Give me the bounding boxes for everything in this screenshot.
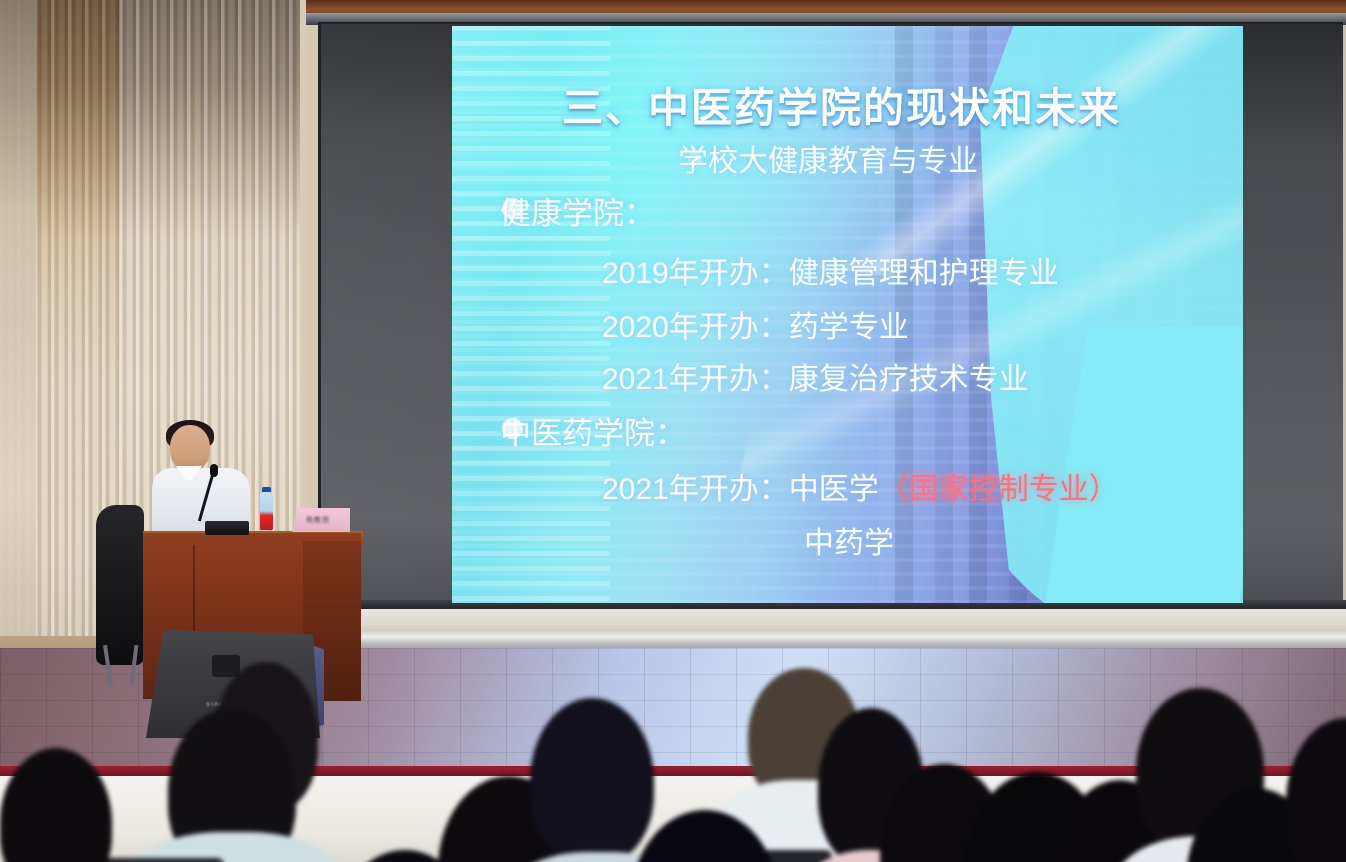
slide-bullet-2-label: 中医药学院： xyxy=(500,408,686,453)
audience-head xyxy=(530,698,654,862)
slide-text-layer: 三、中医药学院的现状和未来 学校大健康教育与专业 健康学院： 2019年开办：健… xyxy=(452,26,1243,603)
speaker-head xyxy=(170,425,210,471)
lecture-hall-screenshot: 三、中医药学院的现状和未来 学校大健康教育与专业 健康学院： 2019年开办：健… xyxy=(0,0,1346,862)
audience-head xyxy=(0,748,112,862)
left-wall-strip xyxy=(0,0,36,700)
slide-subtitle: 学校大健康教育与专业 xyxy=(678,136,978,180)
microphone-icon xyxy=(210,464,218,477)
slide-bullet-1-item-1: 2019年开办：健康管理和护理专业 xyxy=(602,248,1059,292)
audience-chair-back xyxy=(92,858,224,862)
water-bottle xyxy=(260,492,273,530)
slide-title: 三、中医药学院的现状和未来 xyxy=(562,74,1182,134)
audience-foreground xyxy=(0,600,1346,862)
slide-bullet-1-label: 健康学院： xyxy=(500,188,655,233)
projected-slide: 三、中医药学院的现状和未来 学校大健康教育与专业 健康学院： 2019年开办：健… xyxy=(452,26,1243,603)
slide-bullet-1-item-2: 2020年开办：药学专业 xyxy=(602,302,909,346)
slide-bullet-2-item-2: 中药学 xyxy=(804,518,894,562)
audience-head xyxy=(1286,718,1346,862)
slide-line4-highlight: （国家控制专业） xyxy=(879,473,1119,506)
podium-device xyxy=(205,521,249,535)
slide-bullet-1-item-3: 2021年开办：康复治疗技术专业 xyxy=(602,354,1029,398)
presenter-name-card-text: 杨教授 xyxy=(306,515,330,525)
slide-bullet-2-item-1: 2021年开办：中医学（国家控制专业） xyxy=(602,464,1119,508)
slide-line4-plain: 2021年开办：中医学 xyxy=(602,473,879,506)
